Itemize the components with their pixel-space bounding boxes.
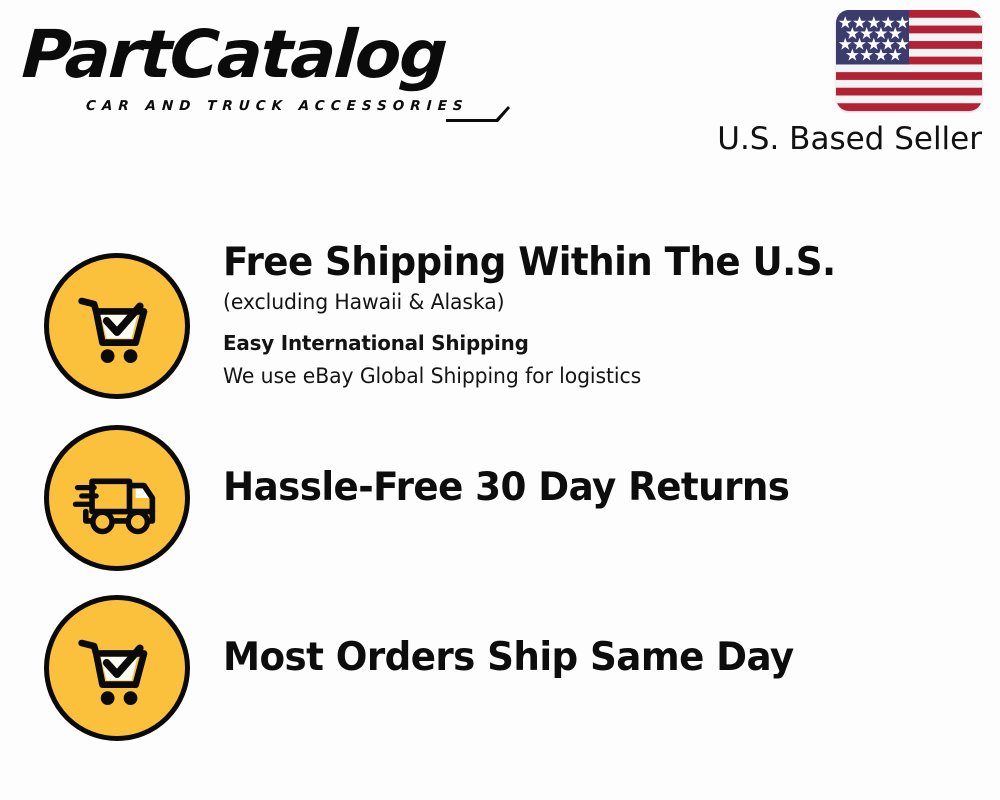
delivery-truck-icon bbox=[44, 425, 190, 571]
shopping-cart-check-icon bbox=[44, 595, 190, 741]
us-based-seller-label: U.S. Based Seller bbox=[717, 120, 982, 158]
feature-headline: Hassle-Free 30 Day Returns bbox=[223, 464, 930, 511]
feature-row: Hassle-Free 30 Day Returns bbox=[0, 408, 1000, 580]
brand-logo[interactable]: PartCatalog CAR AND TRUCK ACCESSORIES bbox=[24, 22, 494, 117]
feature-text: Hassle-Free 30 Day Returns bbox=[223, 464, 963, 511]
feature-subline: (excluding Hawaii & Alaska) bbox=[223, 286, 941, 319]
us-based-seller-block: U.S. Based Seller bbox=[720, 8, 990, 158]
shopping-cart-check-icon bbox=[44, 253, 190, 399]
brand-wordmark: PartCatalog bbox=[20, 22, 503, 88]
feature-text: Free Shipping Within The U.S. (excluding… bbox=[223, 239, 963, 393]
feature-subline-bold: Easy International Shipping bbox=[223, 327, 941, 360]
logo-swash-icon bbox=[444, 104, 510, 122]
page-header: PartCatalog CAR AND TRUCK ACCESSORIES bbox=[0, 0, 1000, 175]
brand-tagline: CAR AND TRUCK ACCESSORIES bbox=[86, 98, 469, 114]
feature-row: Most Orders Ship Same Day bbox=[0, 578, 1000, 750]
feature-headline: Most Orders Ship Same Day bbox=[223, 634, 930, 681]
feature-subline: We use eBay Global Shipping for logistic… bbox=[223, 360, 941, 393]
feature-row: Free Shipping Within The U.S. (excluding… bbox=[0, 236, 1000, 408]
feature-text: Most Orders Ship Same Day bbox=[223, 634, 963, 681]
feature-headline: Free Shipping Within The U.S. bbox=[223, 239, 930, 286]
us-flag-icon bbox=[836, 10, 982, 111]
